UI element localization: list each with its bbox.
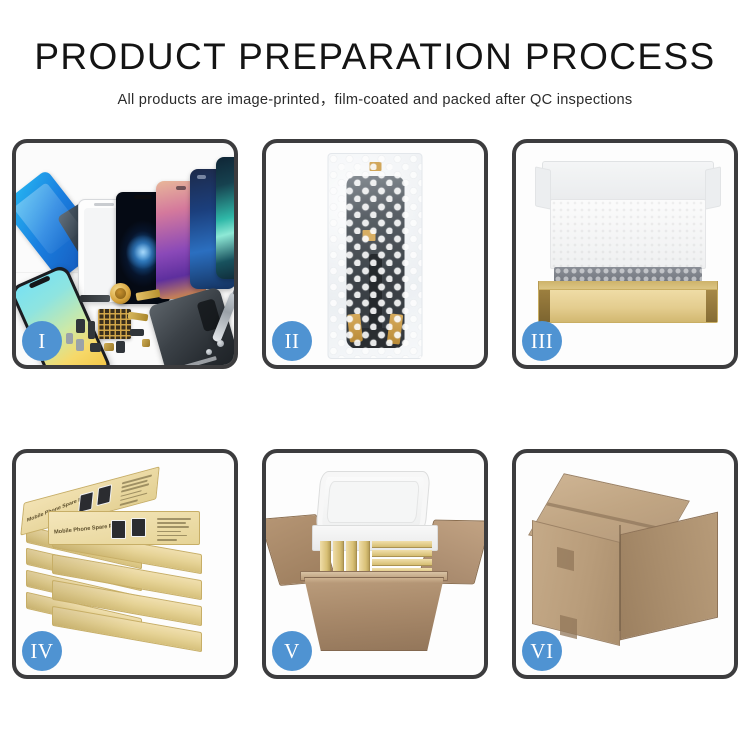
step-badge-6: VI [522, 631, 562, 671]
page-title: PRODUCT PREPARATION PROCESS [0, 38, 750, 77]
carton-tape-lower [560, 615, 577, 639]
kraft-box-front [538, 289, 718, 323]
process-step-panel-6[interactable]: VI [512, 449, 738, 679]
process-step-panel-1[interactable]: I [12, 139, 238, 369]
step-badge-5: V [272, 631, 312, 671]
carton-vertical-edge [619, 525, 621, 631]
box-thumbnail [131, 518, 146, 537]
small-part [88, 321, 95, 339]
screw-part [217, 340, 224, 347]
small-part [104, 343, 114, 351]
teal-phone-screen [216, 157, 234, 279]
small-part [130, 329, 144, 336]
bubble-texture [329, 154, 422, 358]
page-subtitle: All products are image-printed，film-coat… [0, 88, 750, 109]
process-step-panel-5[interactable]: V [262, 449, 488, 679]
process-step-grid: I II III [12, 139, 738, 679]
small-part [116, 341, 125, 353]
header: PRODUCT PREPARATION PROCESS All products… [0, 0, 750, 109]
kraft-box-top-front: Mobile Phone Spare Parts [48, 511, 200, 545]
box-spec-lines [157, 518, 191, 543]
carton-tape-upper [557, 547, 574, 571]
step-badge-1: I [22, 321, 62, 361]
step-badge-4: IV [22, 631, 62, 671]
process-step-panel-2[interactable]: II [262, 139, 488, 369]
flex-cable-part [80, 295, 110, 302]
step-badge-2: II [272, 321, 312, 361]
screw-part [206, 349, 212, 355]
process-step-panel-4[interactable]: Mobile Phone Spare Parts Mobile Phone Sp… [12, 449, 238, 679]
small-part [76, 319, 85, 333]
outer-carton-body [304, 577, 444, 651]
small-part [76, 339, 84, 351]
small-part [66, 333, 73, 344]
step-badge-3: III [522, 321, 562, 361]
box-thumbnail [78, 491, 94, 513]
foam-sheet [550, 199, 706, 269]
box-spec-lines [119, 474, 152, 508]
process-step-panel-3[interactable]: III [512, 139, 738, 369]
small-part [90, 343, 101, 352]
chip-grid-part [98, 309, 131, 339]
small-part [142, 339, 150, 347]
box-lid-print-front: Mobile Phone Spare Parts [49, 512, 199, 544]
foam-box-lid [315, 471, 430, 533]
carton-right-face [620, 512, 718, 641]
box-thumbnail [96, 484, 112, 506]
box-thumbnail [111, 520, 126, 539]
gold-disc-part [110, 283, 131, 304]
bubble-wrap-bag [328, 153, 423, 359]
